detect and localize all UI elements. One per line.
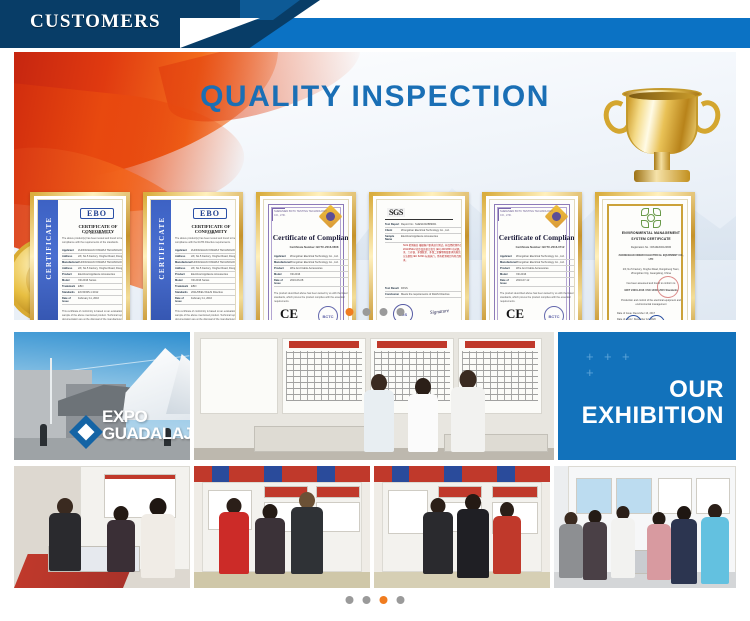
flag-bunting (194, 466, 370, 482)
certificate-details-table: ApplicantZhongshan Electrical Technology… (274, 254, 349, 287)
exhibition-row-top: EXPO GUADALAJARA + + + + OUR EXHIBITION (14, 332, 736, 460)
carousel-dot-4[interactable] (397, 308, 405, 316)
person (422, 498, 454, 574)
company-address: 2/F, No.5 Factory, Xinghui Road, Dongshe… (617, 268, 685, 276)
booth-group-three-women-photo[interactable] (374, 466, 550, 588)
table-row: Date of Issue2016-07-12 (500, 278, 575, 287)
banner-title: QUALITY INSPECTION (14, 80, 736, 114)
certificate-legal-text: This certificate of conformity is based … (175, 310, 236, 320)
certificate-card[interactable]: CERTIFICATE EBO CERTIFICATE OF CONFORMIT… (30, 192, 130, 320)
our-exhibition-panel: + + + + OUR EXHIBITION (558, 332, 736, 460)
table-row: Date of Issue2016-06-08 (274, 278, 349, 287)
exhibition-carousel-dots[interactable] (346, 596, 405, 604)
booth-group-three-photo[interactable] (194, 466, 370, 588)
person (48, 498, 82, 570)
plus-decoration-icon: + (586, 368, 594, 378)
our-exhibition-line2: EXHIBITION (582, 402, 724, 430)
certificate-card[interactable]: SGS Test ReportReport No.: SHES160288900… (369, 192, 469, 320)
issuer-info: SHENZHEN BCTC TESTING TECHNOLOGY CO., LT… (500, 210, 556, 218)
ce-mark-icon: CE (506, 306, 524, 320)
person (362, 374, 396, 452)
certificate-details-table: Test ReportReport No.: SHES1602889001 Cl… (385, 222, 462, 243)
carousel-dot-1[interactable] (346, 308, 354, 316)
registration-number: Registration No.: 00616E30012R0M (617, 246, 685, 250)
company-name: ZHONGSHAN XINGRUI ELECTRICAL EQUIPMENT C… (617, 254, 685, 262)
certificate-number: Certificate Number: BCTC-2016-0608 (272, 245, 349, 249)
booth-crowd-photo[interactable] (554, 466, 736, 588)
table-row: Date of IssueFebruary 11, 2016 (62, 296, 123, 305)
certificate-intro: The above product(s) has been tested and… (175, 237, 236, 245)
booth-meeting-photo[interactable] (14, 466, 190, 588)
certificate-sidebar: CERTIFICATE (151, 200, 171, 320)
ce-mark-icon: CE (280, 306, 298, 320)
certificate-gallery: CERTIFICATE EBO CERTIFICATE OF CONFORMIT… (30, 192, 720, 320)
certificate-conclusion-table: Test ResultPASS ConclusionMeets the requ… (385, 286, 462, 298)
page-header: CUSTOMERS (0, 0, 750, 48)
exhibition-row-bottom (14, 466, 736, 588)
carousel-dot-4[interactable] (397, 596, 405, 604)
our-exhibition-line1: OUR (669, 376, 724, 404)
issuer-stamp-icon: BCTC (544, 306, 564, 320)
person (558, 512, 584, 578)
signature: Signature (430, 309, 450, 316)
certificate-card[interactable]: SHENZHEN BCTC TESTING TECHNOLOGY CO., LT… (256, 192, 356, 320)
carousel-dot-3[interactable] (380, 596, 388, 604)
person (670, 506, 698, 584)
certificate-legal-text: The product described above has been tes… (274, 292, 349, 303)
certificate-details-table: ApplicantZhongshan Electrical Technology… (500, 254, 575, 287)
person (406, 378, 440, 452)
certificate-title: ENVIRONMENTAL MANAGEMENT SYSTEM CERTIFIC… (615, 231, 687, 242)
person (700, 504, 730, 584)
plus-decoration-icon: + (604, 352, 612, 362)
certificate-title: Certificate of Compliance (498, 233, 575, 242)
certificate-legal-text: This certificate of conformity is based … (62, 310, 123, 320)
carousel-dot-3[interactable] (380, 308, 388, 316)
trade-show-booth-three-people-photo[interactable] (194, 332, 554, 460)
test-result-text: SGS 检测报告 根据客户要求进行测试，样品经检测符合 RoHS 2011/65… (403, 244, 462, 263)
plus-decoration-icon: + (586, 352, 594, 362)
person (492, 502, 522, 574)
plus-decoration-icon: + (622, 352, 630, 362)
certificate-card[interactable]: CERTIFICATE EBO CERTIFICATE OF CONFORMIT… (143, 192, 243, 320)
carousel-dot-2[interactable] (363, 308, 371, 316)
issuer-info: SHENZHEN BCTC TESTING TECHNOLOGY CO., LT… (274, 210, 330, 218)
person (582, 510, 608, 580)
sidebar-label: CERTIFICATE (45, 204, 53, 292)
table-row: Date of IssueFebruary 11, 2016 (175, 296, 236, 305)
quality-inspection-banner: QUALITY INSPECTION CERTIFICATE EBO CERTI… (14, 52, 736, 320)
certificate-legal-text: The product described above has been tes… (500, 292, 575, 303)
certificate-intro: The above product(s) has been tested and… (62, 237, 123, 245)
carousel-dot-2[interactable] (363, 596, 371, 604)
scope-text: Production and control of the electrical… (617, 299, 685, 307)
expo-sign-line2: GUADALAJARA (102, 425, 190, 442)
certificate-carousel-dots[interactable] (346, 308, 405, 316)
person (218, 498, 250, 574)
table-row: ConclusionMeets the requirements of RoHS… (385, 292, 462, 298)
certificate-number: RoHS (175, 231, 236, 235)
certificate-number: Certificate Number: BCTC-2016-0712 (498, 245, 575, 249)
certificate-card[interactable]: SHENZHEN BCTC TESTING TECHNOLOGY CO., LT… (482, 192, 582, 320)
person (290, 492, 324, 574)
person (456, 494, 490, 578)
certificate-number: No. EBO1602114YX (62, 231, 123, 235)
person (254, 504, 286, 574)
certificate-card[interactable]: ENVIRONMENTAL MANAGEMENT SYSTEM CERTIFIC… (595, 192, 695, 320)
certificate-sidebar: CERTIFICATE (38, 200, 58, 320)
sidebar-label: CERTIFICATE (158, 204, 166, 292)
issuer-stamp-icon: BCTC (318, 306, 338, 320)
expo-sign-line1: EXPO (102, 408, 190, 425)
person (646, 512, 672, 580)
ebo-logo: EBO (193, 208, 227, 219)
person (106, 506, 136, 570)
person (450, 370, 486, 452)
table-row: Sample NameElectrical Appliance Accessor… (385, 234, 462, 243)
certificate-details-table: ApplicantZHONGSHAN XINGRUI TECHNOLOGY CO… (62, 248, 123, 305)
certificate-details-table: ApplicantZHONGSHAN XINGRUI TECHNOLOGY CO… (175, 248, 236, 305)
sgs-logo: SGS (387, 208, 405, 217)
page-title: CUSTOMERS (30, 11, 161, 33)
flag-bunting (374, 466, 550, 482)
certificate-title: Certificate of Compliance (272, 233, 349, 242)
environmental-emblem-icon (641, 208, 661, 228)
expo-guadalajara-photo[interactable]: EXPO GUADALAJARA (14, 332, 190, 460)
person (610, 506, 636, 578)
carousel-dot-1[interactable] (346, 596, 354, 604)
person (140, 498, 176, 578)
expo-sign-text: EXPO GUADALAJARA (102, 408, 190, 442)
ebo-logo: EBO (80, 208, 114, 219)
